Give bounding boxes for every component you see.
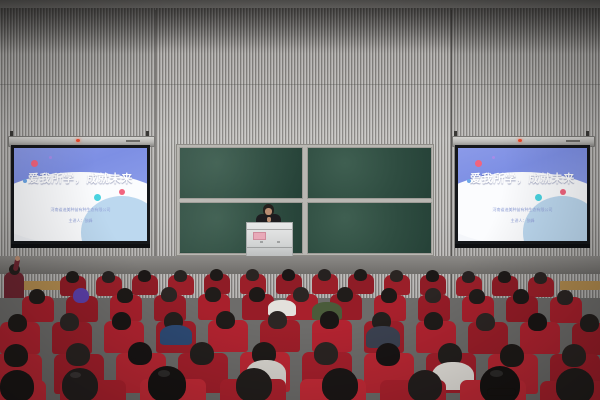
student-head — [117, 288, 133, 303]
student-head — [322, 368, 358, 400]
student-head — [556, 368, 594, 400]
student-head — [128, 342, 152, 365]
student-shoulders — [160, 325, 192, 345]
student-head — [210, 269, 223, 281]
student-head — [60, 313, 79, 331]
screen-brand-label — [566, 140, 580, 142]
student-head — [462, 271, 475, 283]
slide-title: 爱我所学，成就未来 — [14, 170, 147, 186]
screen-brand-label — [126, 140, 140, 142]
student-head — [376, 343, 400, 366]
lectern-name-card — [253, 232, 266, 240]
student-head — [580, 314, 599, 332]
student-head — [29, 289, 45, 304]
student-head — [138, 270, 151, 282]
student-head — [424, 312, 443, 330]
student-head — [0, 370, 34, 400]
wall-shadow-top — [0, 8, 600, 54]
left-projection-screen[interactable]: 爱我所学，成就未来 河南省迪美种苗有种生态有限公司 主讲人：张峰 — [8, 131, 153, 253]
lecture-hall-photo: 爱我所学，成就未来 河南省迪美种苗有种生态有限公司 主讲人：张峰 爱我所学，成 — [0, 0, 600, 400]
student-head — [161, 287, 177, 302]
left-screen-frame: 爱我所学，成就未来 河南省迪美种苗有种生态有限公司 主讲人：张峰 — [11, 145, 150, 244]
student-head — [205, 287, 221, 302]
slide-surface: 爱我所学，成就未来 河南省迪美种苗有种生态有限公司 主讲人：张峰 — [14, 148, 147, 241]
student-head — [390, 270, 403, 282]
lectern-button-right — [277, 241, 280, 243]
hair-highlight — [158, 370, 170, 377]
slide-subtitle-org: 河南省迪美种苗有种生态有限公司 — [14, 207, 147, 213]
hair-highlight — [490, 370, 503, 377]
slide-subtitle-org: 河南省迪美种苗有种生态有限公司 — [458, 207, 587, 213]
student-head — [354, 269, 367, 281]
student-head — [534, 272, 547, 284]
wall-horizontal-seam — [0, 84, 600, 85]
right-screen-frame: 爱我所学，成就未来 河南省迪美种苗有种生态有限公司 主讲人：张峰 — [455, 145, 590, 244]
student-head — [73, 288, 89, 303]
presenter-face — [265, 208, 272, 215]
student-head — [293, 287, 309, 302]
student-head — [236, 368, 272, 400]
student-head — [66, 271, 79, 283]
slide-surface: 爱我所学，成就未来 河南省迪美种苗有种生态有限公司 主讲人：张峰 — [458, 148, 587, 241]
seated-students — [0, 262, 600, 400]
student-head — [425, 288, 441, 303]
dot-pink-right-icon — [560, 189, 566, 195]
student-head — [426, 270, 439, 282]
student-head — [174, 270, 187, 282]
student-head — [469, 289, 485, 304]
student-head — [268, 311, 287, 329]
green-chalkboard — [176, 144, 434, 256]
student-head — [337, 287, 353, 302]
chalkboard-sheen — [179, 147, 430, 252]
student-head — [66, 343, 90, 366]
dot-cyan-center-icon — [94, 194, 101, 201]
student-head — [528, 313, 547, 331]
student-head — [408, 370, 442, 400]
lectern — [246, 222, 293, 259]
screen-status-light — [518, 139, 522, 142]
student-head — [562, 344, 586, 367]
student-head — [4, 344, 28, 367]
student-head — [314, 342, 338, 365]
screen-status-light — [76, 139, 80, 142]
hair-highlight — [70, 372, 81, 378]
lectern-button-left — [260, 241, 263, 243]
student-head — [249, 287, 265, 302]
student-head — [320, 311, 339, 329]
student-head — [476, 313, 495, 331]
lectern-panel-line — [247, 247, 292, 248]
student-head — [381, 288, 397, 303]
slide-title: 爱我所学，成就未来 — [458, 170, 587, 186]
screen-weight-bar — [11, 244, 150, 248]
dot-cyan-center-icon — [535, 194, 542, 201]
slide-subtitle-speaker: 主讲人：张峰 — [458, 218, 587, 224]
student-head — [282, 269, 295, 281]
student-head — [557, 290, 573, 305]
lectern-top-edge — [247, 229, 292, 230]
student-head — [500, 344, 524, 367]
dot-pink-right-icon — [119, 189, 125, 195]
student-head — [216, 311, 235, 329]
slide-subtitle-speaker: 主讲人：张峰 — [14, 218, 147, 224]
student-head — [246, 269, 259, 281]
student-head — [112, 312, 131, 330]
student-head — [318, 269, 331, 281]
student-head — [190, 342, 214, 365]
student-head — [498, 271, 511, 283]
eyeglasses-icon — [487, 388, 516, 396]
screen-weight-bar — [455, 244, 590, 248]
right-projection-screen[interactable]: 爱我所学，成就未来 河南省迪美种苗有种生态有限公司 主讲人：张峰 — [452, 131, 593, 253]
student-head — [102, 271, 115, 283]
student-head — [513, 289, 529, 304]
student-head — [8, 314, 27, 332]
dot-pink-upper-left-icon — [475, 160, 482, 167]
attendee-hand — [15, 256, 20, 261]
